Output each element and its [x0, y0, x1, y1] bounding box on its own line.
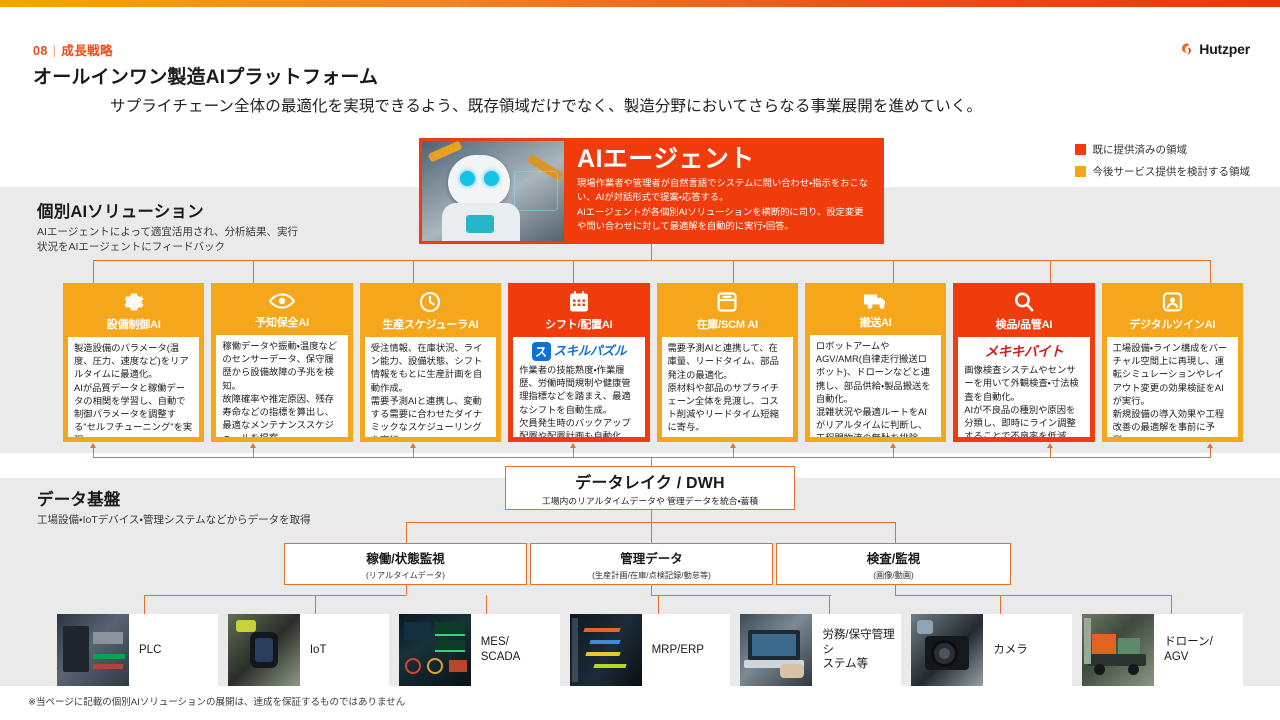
- truck-icon: [805, 283, 946, 312]
- solution-card-list: 設備制御AI 製造設備のパラメータ(温度、圧力、速度など)をリアルタイムに最適化…: [63, 283, 1243, 442]
- brand-logo-skill-puzzle: ス スキルパズル: [519, 342, 638, 361]
- connector-riser-3: [413, 260, 414, 283]
- clock-icon: [360, 283, 501, 314]
- connector-card-down-5: [733, 448, 734, 457]
- mrp-erp-photo: [570, 614, 642, 686]
- connector-riser-5: [733, 260, 734, 283]
- data-source-label: ドローン/ AGV: [1154, 635, 1213, 664]
- data-tier-inspection-monitoring[interactable]: 検査/監視 (画像/動画): [776, 543, 1011, 585]
- breadcrumb-number: 08: [33, 44, 48, 58]
- labor-maintenance-photo: [740, 614, 812, 686]
- ai-agent-description: 現場作業者や管理者が自然言語でシステムに問い合わせ・指示をおこない、AIが対話形…: [577, 176, 872, 233]
- connector-card-down-7: [1050, 448, 1051, 457]
- solution-card-title: デジタルツインAI: [1102, 314, 1243, 337]
- connector-tier-riser-1: [406, 522, 407, 543]
- solution-card-title: 在庫/SCM AI: [657, 314, 798, 337]
- data-source-label: カメラ: [983, 643, 1028, 658]
- slide-root: 08|成長戦略 オールインワン製造AIプラットフォーム サプライチェーン全体の最…: [0, 0, 1280, 720]
- connector-source-riser-agv: [1171, 595, 1172, 614]
- legend-swatch-provided: [1075, 144, 1086, 155]
- data-source-labor-maintenance[interactable]: 労務/保守管理シ ステム等: [740, 614, 901, 686]
- data-source-label: MRP/ERP: [642, 643, 704, 658]
- data-source-camera[interactable]: カメラ: [911, 614, 1072, 686]
- gear-icon: [63, 283, 204, 314]
- legend-label-provided: 既に提供済みの領域: [1093, 142, 1188, 157]
- solution-card-body-wrap: メキキバイト 画像検査システムやセンサーを用いて外観検査・寸法検査を自動化。 A…: [958, 337, 1089, 437]
- magnifier-icon: [953, 283, 1094, 314]
- connector-riser-7: [1050, 260, 1051, 283]
- connector-source-riser-mes: [486, 595, 487, 614]
- connector-tier1-bus: [144, 595, 406, 596]
- connector-card-down-1: [93, 448, 94, 457]
- data-source-label: 労務/保守管理シ ステム等: [812, 628, 901, 672]
- hutzper-mark-icon: [1179, 42, 1194, 57]
- brand-name: スキルパズル: [554, 343, 627, 361]
- data-source-label: IoT: [300, 643, 327, 658]
- connector-source-riser-plc: [144, 595, 145, 614]
- connector-card-down-3: [413, 448, 414, 457]
- data-source-mrp-erp[interactable]: MRP/ERP: [570, 614, 731, 686]
- accent-topbar: [0, 0, 1280, 7]
- mes-scada-photo: [399, 614, 471, 686]
- solution-card-body: ロボットアームやAGV/AMR(自律走行搬送ロボット)、ドローンなどと連携し、部…: [810, 335, 941, 437]
- data-tier-operation-monitoring[interactable]: 稼働/状態監視 (リアルタイムデータ): [284, 543, 527, 585]
- data-section-subtitle: 工場設備・IoTデバイス・管理システムなどからデータを取得: [37, 513, 311, 528]
- connector-riser-2: [253, 260, 254, 283]
- solution-card-body-wrap: ス スキルパズル 作業者の技能熟度・作業履歴、労働時間規制や健康管理指標などを踏…: [513, 337, 644, 437]
- breadcrumb-separator: |: [53, 44, 57, 58]
- solution-card-body: 稼働データや振動・温度などのセンサーデータ、保守履歴から設備故障の予兆を検知。 …: [216, 335, 347, 437]
- data-tier-management-data[interactable]: 管理データ (生産計画/在庫/点検記録/勤怠等): [530, 543, 773, 585]
- inventory-box-icon: [657, 283, 798, 314]
- iot-wearable-photo: [228, 614, 300, 686]
- solutions-section-title: 個別AIソリューション: [37, 198, 298, 222]
- page-lede: サプライチェーン全体の最適化を実現できるよう、既存領域だけでなく、製造分野におい…: [110, 94, 1220, 116]
- data-tier-title: 検査/監視: [867, 548, 920, 567]
- connector-source-riser-mrp: [658, 595, 659, 614]
- legend: 既に提供済みの領域 今後サービス提供を検討する領域: [1075, 142, 1251, 186]
- data-source-mes-scada[interactable]: MES/ SCADA: [399, 614, 560, 686]
- legend-label-planned: 今後サービス提供を検討する領域: [1093, 164, 1251, 179]
- ai-agent-hero-text: AIエージェント 現場作業者や管理者が自然言語でシステムに問い合わせ・指示をおこ…: [564, 138, 884, 244]
- solutions-section-subtitle: AIエージェントによって適宜活用され、分析結果、実行 状況をAIエージェントにフ…: [37, 225, 298, 255]
- data-tier-subtitle: (画像/動画): [873, 569, 913, 581]
- solution-card-predictive-maintenance[interactable]: 予知保全AI 稼働データや振動・温度などのセンサーデータ、保守履歴から設備故障の…: [211, 283, 352, 442]
- connector-tier2-bus: [651, 595, 831, 596]
- ai-agent-title: AIエージェント: [577, 146, 872, 172]
- solution-card-body: 工場設備・ライン構成をバーチャル空間上に再現し、運転シミュレーションやレイアウト…: [1107, 337, 1238, 437]
- brand-badge: ス: [532, 342, 551, 361]
- digital-twin-icon: [1102, 283, 1243, 314]
- data-source-list: PLC IoT MES/ SCADA: [57, 614, 1243, 686]
- legend-item-provided: 既に提供済みの領域: [1075, 142, 1251, 157]
- data-lake-subtitle: 工場内のリアルタイムデータや 管理データを統合・蓄積: [542, 494, 758, 507]
- connector-source-riser-camera: [1000, 595, 1001, 614]
- page-title: オールインワン製造AIプラットフォーム: [33, 62, 378, 89]
- connector-tier-riser-3: [895, 522, 896, 543]
- connector-source-riser-labor: [829, 595, 830, 614]
- connector-datalake-down: [651, 510, 652, 522]
- plc-photo: [57, 614, 129, 686]
- solution-card-inspection-quality[interactable]: 検品/品管AI メキキバイト 画像検査システムやセンサーを用いて外観検査・寸法検…: [953, 283, 1094, 442]
- solution-card-transport[interactable]: 搬送AI ロボットアームやAGV/AMR(自律走行搬送ロボット)、ドローンなどと…: [805, 283, 946, 442]
- solution-card-body: 製造設備のパラメータ(温度、圧力、速度など)をリアルタイムに最適化。 AIが品質…: [68, 337, 199, 437]
- data-source-label: MES/ SCADA: [471, 635, 521, 664]
- data-tier-subtitle: (生産計画/在庫/点検記録/勤怠等): [592, 569, 711, 581]
- data-lake-box[interactable]: データレイク / DWH 工場内のリアルタイムデータや 管理データを統合・蓄積: [505, 466, 795, 510]
- eye-icon: [211, 283, 352, 312]
- solution-card-shift-allocation[interactable]: シフト/配置AI ス スキルパズル 作業者の技能熟度・作業履歴、労働時間規制や健…: [508, 283, 649, 442]
- solution-card-title: 検品/品管AI: [953, 314, 1094, 337]
- breadcrumb-label: 成長戦略: [61, 44, 113, 58]
- solutions-section-header: 個別AIソリューション AIエージェントによって適宜活用され、分析結果、実行 状…: [37, 198, 298, 255]
- solution-card-body: 作業者の技能熟度・作業履歴、労働時間規制や健康管理指標などを踏まえ、最適なシフト…: [519, 364, 638, 437]
- data-source-label: PLC: [129, 643, 161, 658]
- solution-card-title: 生産スケジューラAI: [360, 314, 501, 337]
- connector-card-down-2: [253, 448, 254, 457]
- connector-riser-6: [893, 260, 894, 283]
- solution-card-body: 画像検査システムやセンサーを用いて外観検査・寸法検査を自動化。 AIが不良品の種…: [964, 364, 1083, 437]
- solution-card-production-scheduler[interactable]: 生産スケジューラAI 受注情報、在庫状況、ライン能力、設備状態、シフト情報をもと…: [360, 283, 501, 442]
- calendar-icon: [508, 283, 649, 314]
- solution-card-body: 受注情報、在庫状況、ライン能力、設備状態、シフト情報をもとに生産計画を自動作成。…: [365, 337, 496, 437]
- connector-card-down-6: [893, 448, 894, 457]
- connector-tier-riser-2: [651, 522, 652, 543]
- legend-item-planned: 今後サービス提供を検討する領域: [1075, 164, 1251, 179]
- data-source-drone-agv[interactable]: ドローン/ AGV: [1082, 614, 1243, 686]
- logo-text: Hutzper: [1199, 41, 1250, 57]
- connector-riser-8: [1210, 260, 1211, 283]
- data-tier-subtitle: (リアルタイムデータ): [366, 569, 445, 581]
- ai-agent-robot-photo: [422, 141, 564, 241]
- connector-bus-to-datalake: [651, 457, 652, 466]
- data-section-header: データ基盤 工場設備・IoTデバイス・管理システムなどからデータを取得: [37, 486, 311, 528]
- solution-card-digital-twin[interactable]: デジタルツインAI 工場設備・ライン構成をバーチャル空間上に再現し、運転シミュレ…: [1102, 283, 1243, 442]
- connector-tier1-down: [406, 585, 407, 595]
- connector-bus-horizontal: [93, 260, 1210, 261]
- brand-logo: Hutzper: [1179, 41, 1250, 57]
- data-tier-title: 稼働/状態監視: [366, 548, 444, 567]
- data-section-title: データ基盤: [37, 486, 311, 510]
- data-lake-title: データレイク / DWH: [575, 469, 725, 493]
- solution-card-title: 搬送AI: [805, 312, 946, 335]
- data-source-plc[interactable]: PLC: [57, 614, 218, 686]
- ai-agent-hero: AIエージェント 現場作業者や管理者が自然言語でシステムに問い合わせ・指示をおこ…: [419, 138, 884, 244]
- solution-card-title: シフト/配置AI: [508, 314, 649, 337]
- camera-photo: [911, 614, 983, 686]
- connector-tier3-down: [895, 585, 896, 595]
- connector-source-riser-iot: [315, 595, 316, 614]
- solution-card-body: 需要予測AIと連携して、在庫量、リードタイム、部品発注の最適化。 原材料や部品の…: [662, 337, 793, 437]
- solution-card-title: 予知保全AI: [211, 312, 352, 335]
- connector-tier3-bus: [895, 595, 1171, 596]
- connector-hero-to-bus: [651, 244, 652, 260]
- connector-tier2-down: [651, 585, 652, 595]
- connector-card-down-8: [1210, 448, 1211, 457]
- solution-card-title: 設備制御AI: [63, 314, 204, 337]
- connector-riser-4: [573, 260, 574, 283]
- data-tier-title: 管理データ: [620, 548, 683, 567]
- solution-card-inventory-scm[interactable]: 在庫/SCM AI 需要予測AIと連携して、在庫量、リードタイム、部品発注の最適…: [657, 283, 798, 442]
- brand-logo-mekiki-byte: メキキバイト: [964, 342, 1083, 361]
- footnote: ※当ページに記載の個別AIソリューションの展開は、達成を保証するものではありませ…: [28, 694, 405, 708]
- breadcrumb: 08|成長戦略: [33, 40, 113, 59]
- solution-card-equipment-control[interactable]: 設備制御AI 製造設備のパラメータ(温度、圧力、速度など)をリアルタイムに最適化…: [63, 283, 204, 442]
- connector-riser-1: [93, 260, 94, 283]
- brand-name: メキキバイト: [985, 342, 1064, 361]
- data-source-iot[interactable]: IoT: [228, 614, 389, 686]
- drone-agv-photo: [1082, 614, 1154, 686]
- legend-swatch-planned: [1075, 166, 1086, 177]
- connector-card-down-4: [573, 448, 574, 457]
